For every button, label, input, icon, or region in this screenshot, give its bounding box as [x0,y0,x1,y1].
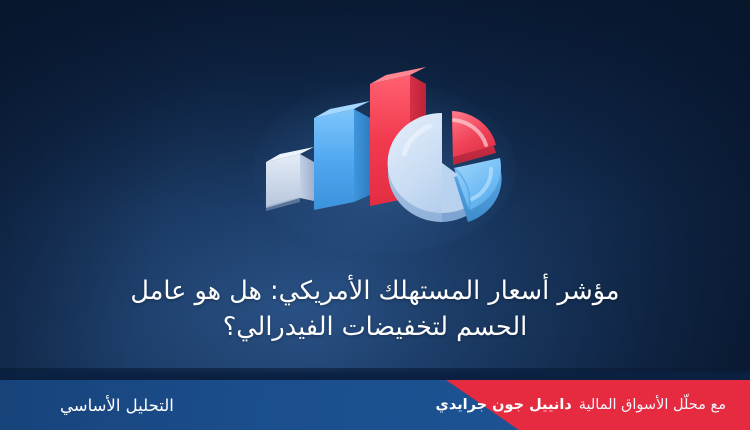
chart-illustration [248,58,510,230]
background-divider-strip [0,368,750,380]
bar-medium [314,101,370,210]
title-line-2: الحسم لتخفيضات الفيدرالي؟ [223,312,527,342]
footer-bar: مع محلّل الأسواق المالية دانييل جون جراي… [0,380,750,430]
author-name: دانييل جون جرايدي [436,397,572,413]
byline-prefix: مع محلّل الأسواق المالية [579,397,726,413]
title-line-1: مؤشر أسعار المستهلك الأمريكي: هل هو عامل [130,276,619,306]
banner-root: مؤشر أسعار المستهلك الأمريكي: هل هو عامل… [0,0,750,430]
category-text: التحليل الأساسي [60,396,174,415]
footer-category-label: التحليل الأساسي [60,380,174,430]
page-title: مؤشر أسعار المستهلك الأمريكي: هل هو عامل… [70,273,680,345]
footer-byline: مع محلّل الأسواق المالية دانييل جون جراي… [436,380,726,430]
